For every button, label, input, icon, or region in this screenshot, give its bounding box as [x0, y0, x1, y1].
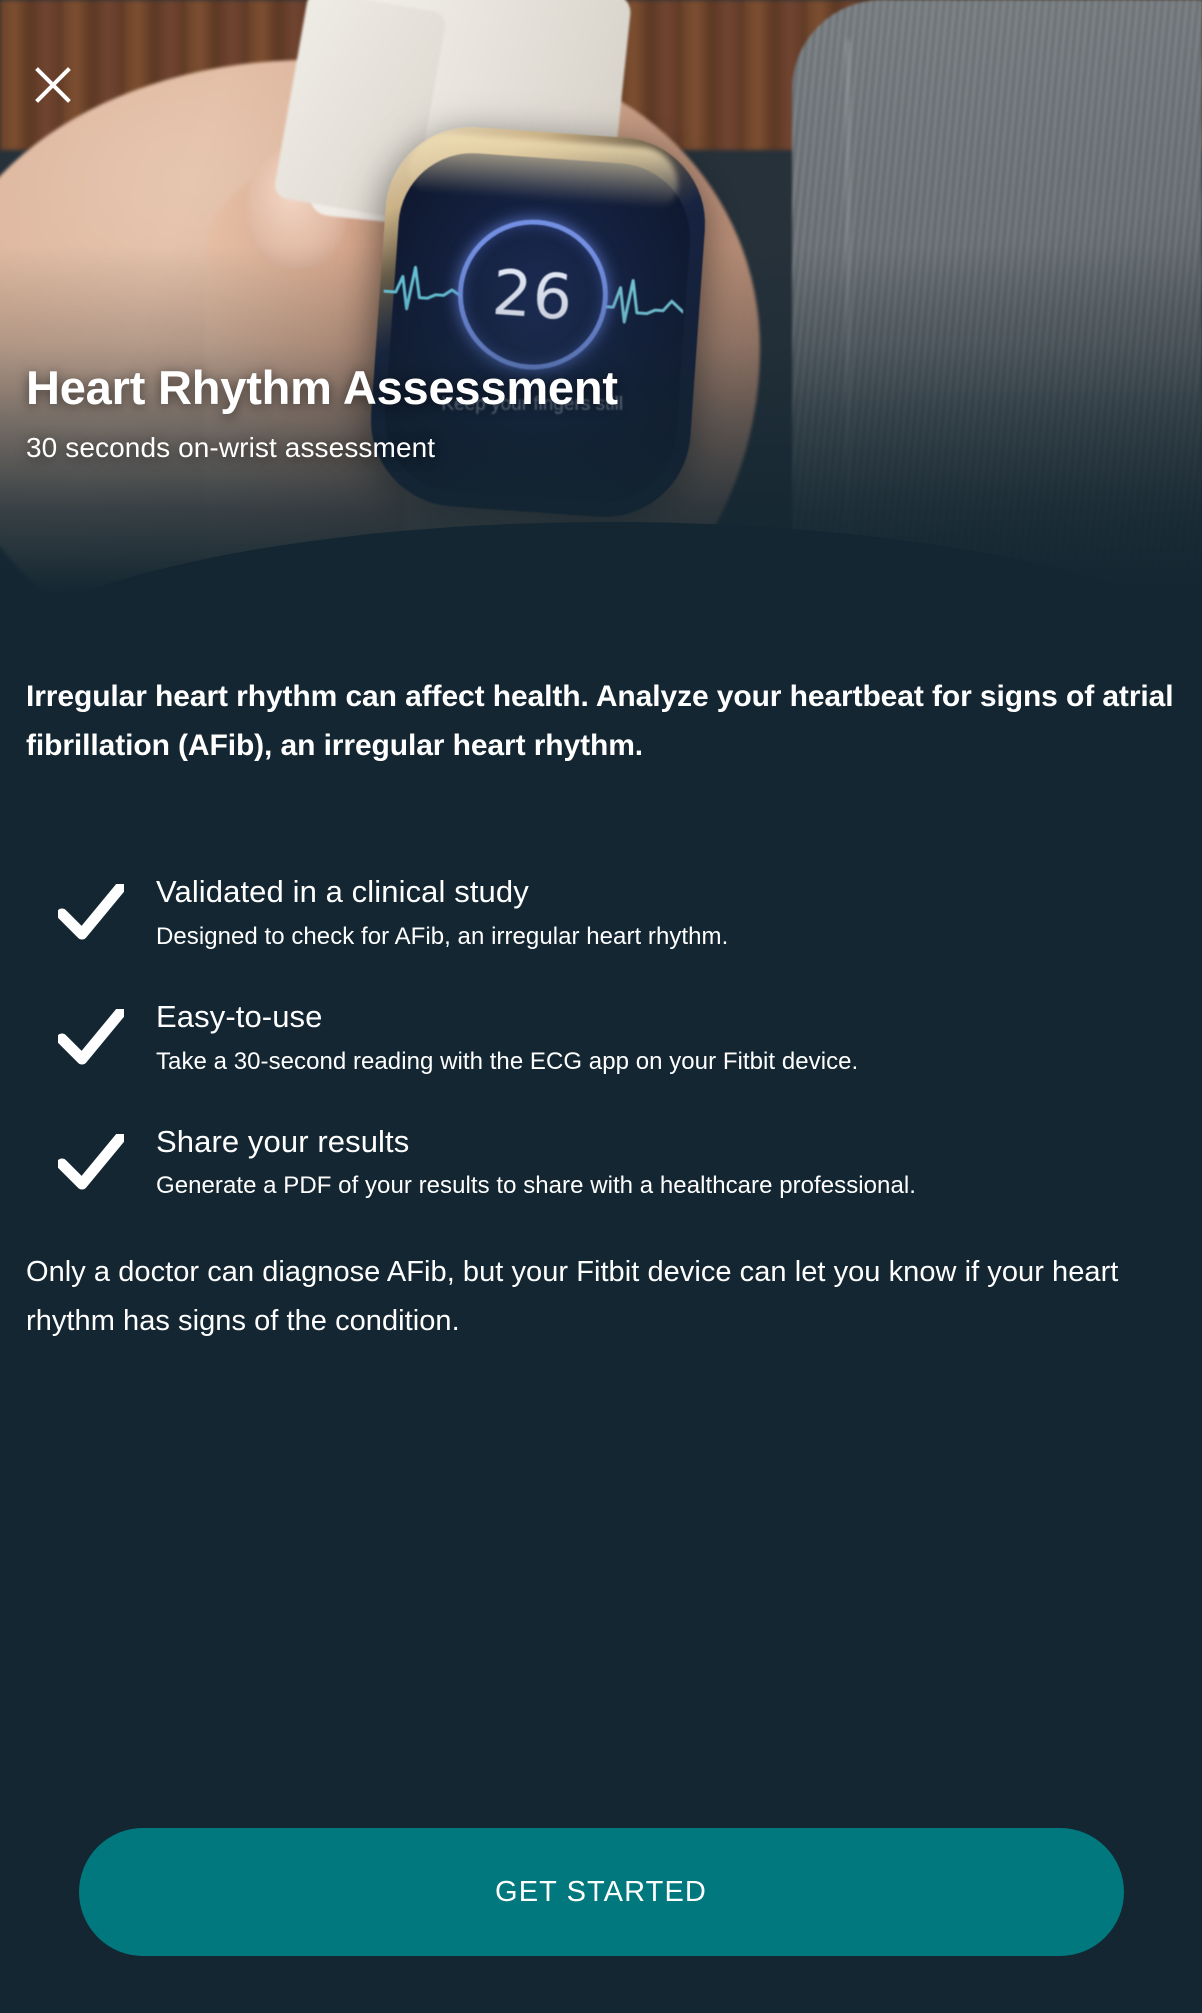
- hero-banner: 26 Keep your fingers still Heart Rhythm …: [0, 0, 1202, 614]
- feature-list: Validated in a clinical study Designed t…: [26, 874, 1176, 1203]
- intro-paragraph: Irregular heart rhythm can affect health…: [26, 672, 1176, 770]
- get-started-button[interactable]: GET STARTED: [79, 1828, 1124, 1956]
- close-icon: [33, 65, 73, 105]
- checkmark-icon: [58, 1134, 124, 1194]
- feature-text: Share your results Generate a PDF of you…: [156, 1124, 1176, 1204]
- heart-rhythm-assessment-screen: 26 Keep your fingers still Heart Rhythm …: [0, 0, 1202, 2013]
- outro-paragraph: Only a doctor can diagnose AFib, but you…: [26, 1248, 1176, 1345]
- feature-item: Share your results Generate a PDF of you…: [26, 1124, 1176, 1204]
- checkmark-icon: [58, 1009, 124, 1069]
- content-area: Irregular heart rhythm can affect health…: [0, 672, 1202, 1346]
- feature-text: Easy-to-use Take a 30-second reading wit…: [156, 999, 1176, 1079]
- feature-description: Designed to check for AFib, an irregular…: [156, 920, 1146, 954]
- feature-text: Validated in a clinical study Designed t…: [156, 874, 1176, 954]
- page-subtitle: 30 seconds on-wrist assessment: [26, 432, 618, 464]
- page-title: Heart Rhythm Assessment: [26, 363, 618, 412]
- checkmark-wrap: [26, 874, 156, 944]
- feature-item: Easy-to-use Take a 30-second reading wit…: [26, 999, 1176, 1079]
- feature-description: Take a 30-second reading with the ECG ap…: [156, 1045, 1146, 1079]
- feature-title: Share your results: [156, 1124, 1146, 1161]
- checkmark-icon: [58, 884, 124, 944]
- feature-description: Generate a PDF of your results to share …: [156, 1169, 1146, 1203]
- hero-text-block: Heart Rhythm Assessment 30 seconds on-wr…: [26, 363, 618, 464]
- close-button[interactable]: [26, 58, 80, 112]
- checkmark-wrap: [26, 1124, 156, 1194]
- checkmark-wrap: [26, 999, 156, 1069]
- cta-container: GET STARTED: [0, 1828, 1202, 1956]
- feature-title: Validated in a clinical study: [156, 874, 1146, 911]
- feature-title: Easy-to-use: [156, 999, 1146, 1036]
- feature-item: Validated in a clinical study Designed t…: [26, 874, 1176, 954]
